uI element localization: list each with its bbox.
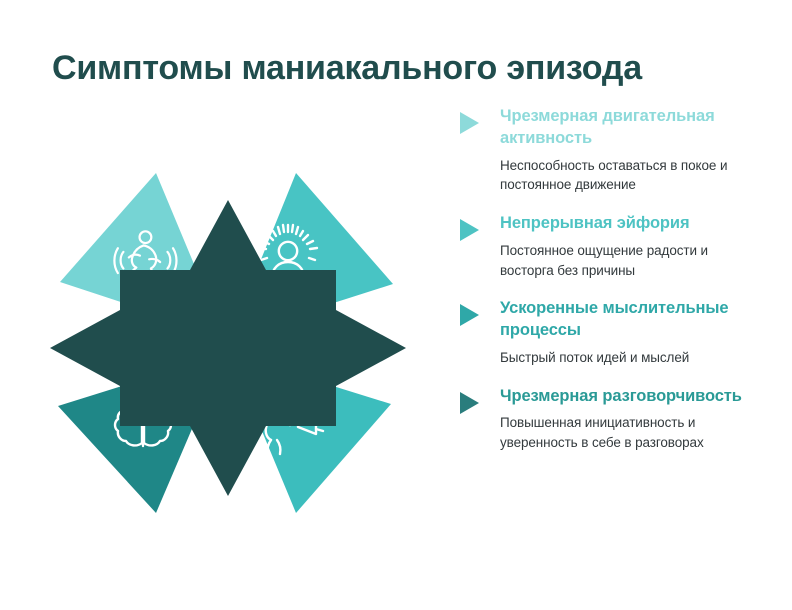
symptom-description: Постоянное ощущение радости и восторга б… — [500, 241, 760, 280]
symptom-list: Чрезмерная двигательная активность Неспо… — [460, 106, 760, 453]
symptom-title: Ускоренные мыслительные процессы — [500, 298, 760, 342]
triangle-right-icon — [460, 304, 479, 326]
symptom-item-1[interactable]: Чрезмерная двигательная активность Неспо… — [460, 106, 760, 195]
symptom-title: Чрезмерная разговорчивость — [500, 386, 760, 408]
symptom-star-diagram — [38, 158, 418, 528]
symptom-item-4[interactable]: Чрезмерная разговорчивость Повышенная ин… — [460, 386, 760, 453]
symptom-description: Неспособность оставаться в покое и посто… — [500, 156, 760, 195]
symptom-item-2[interactable]: Непрерывная эйфория Постоянное ощущение … — [460, 213, 760, 280]
symptom-description: Повышенная инициативность и уверенность … — [500, 413, 760, 452]
infographic-page: Симптомы маниакального эпизода — [0, 0, 792, 610]
triangle-right-icon — [460, 219, 479, 241]
symptom-title: Чрезмерная двигательная активность — [500, 106, 760, 150]
symptom-item-3[interactable]: Ускоренные мыслительные процессы Быстрый… — [460, 298, 760, 367]
triangle-right-icon — [460, 392, 479, 414]
symptom-title: Непрерывная эйфория — [500, 213, 760, 235]
symptom-description: Быстрый поток идей и мыслей — [500, 348, 760, 368]
page-title: Симптомы маниакального эпизода — [52, 49, 752, 88]
triangle-right-icon — [460, 112, 479, 134]
